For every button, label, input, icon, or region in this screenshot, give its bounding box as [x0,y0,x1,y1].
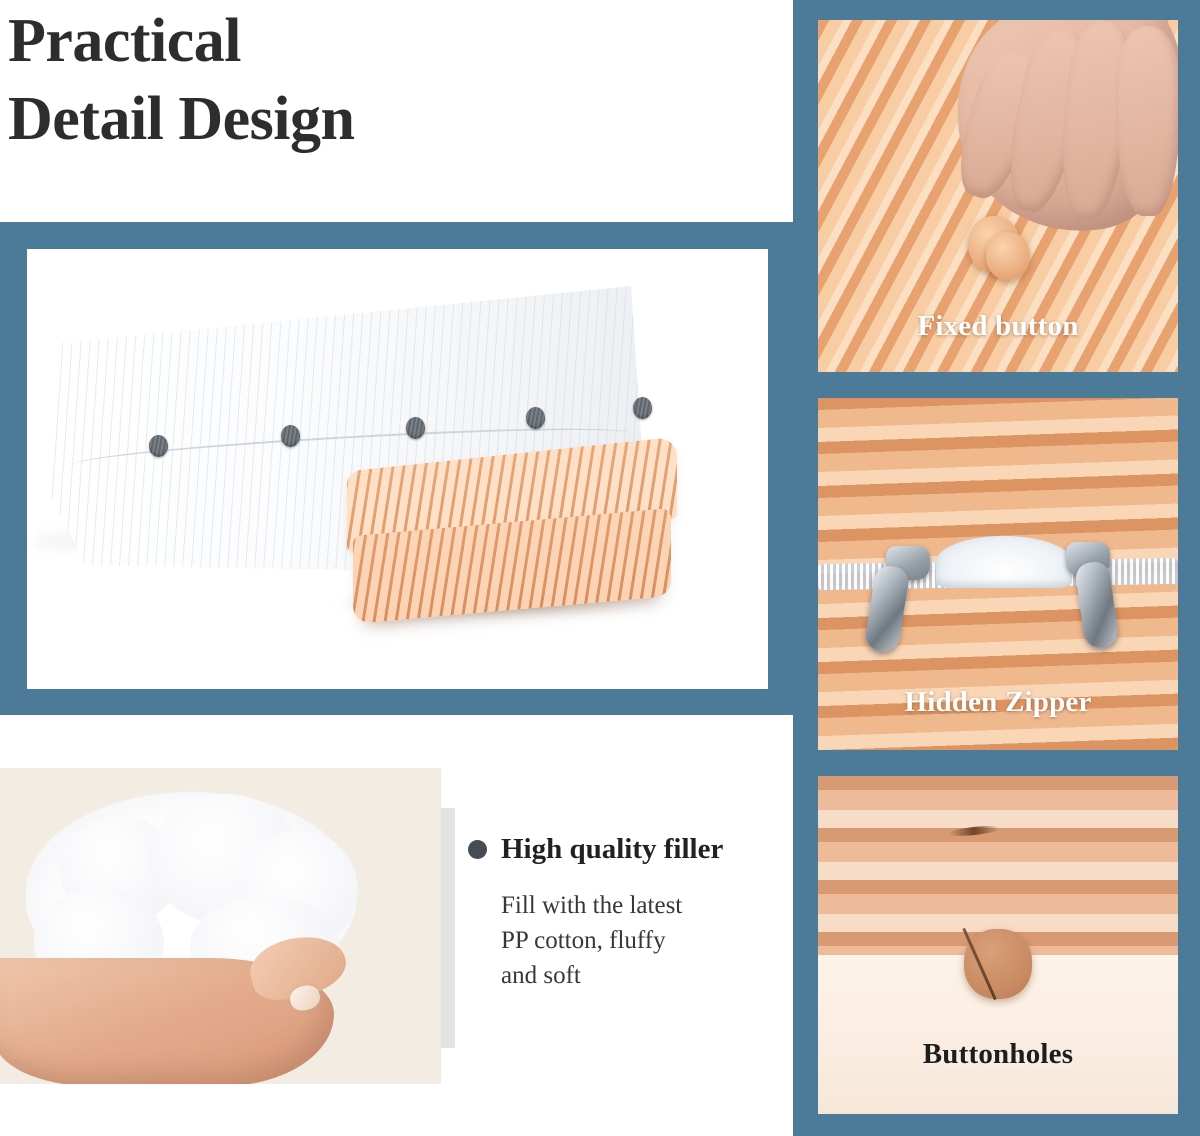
covered-button [964,929,1032,999]
filler-heading: High quality filler [501,832,723,866]
infographic-page: Practical Detail Design [0,0,1200,1136]
folded-corduroy-cover [347,454,677,614]
page-title: Practical Detail Design [8,2,768,158]
filler-text-block: High quality filler Fill with the latest… [468,832,788,993]
divider-strip [441,808,455,1048]
detail-card-hidden-zipper: Hidden Zipper [818,398,1178,750]
pillow-button [149,435,168,457]
detail-card-buttonholes: Buttonholes [818,776,1178,1114]
main-product-photo [27,249,768,689]
zipper-opening [936,536,1072,588]
detail-cards-column: Fixed button Hidden Zipper Buttonholes [793,0,1200,1136]
main-product-frame [0,222,793,715]
filler-description: Fill with the latest PP cotton, fluffy a… [501,888,788,993]
detail-card-label: Fixed button [818,310,1178,343]
detail-card-label: Hidden Zipper [818,686,1178,719]
pillow-button [406,417,425,439]
bullet-dot-icon [468,840,487,859]
hand-finger [1116,26,1178,216]
product-photo-stage [27,249,768,689]
filler-heading-row: High quality filler [468,832,788,866]
pillow-button [281,425,300,447]
covered-button [986,232,1030,280]
detail-card-label: Buttonholes [818,1038,1178,1071]
pillow-button [633,397,652,419]
filler-photo [0,768,441,1084]
detail-card-fixed-button: Fixed button [818,20,1178,372]
pillow-button [526,407,545,429]
